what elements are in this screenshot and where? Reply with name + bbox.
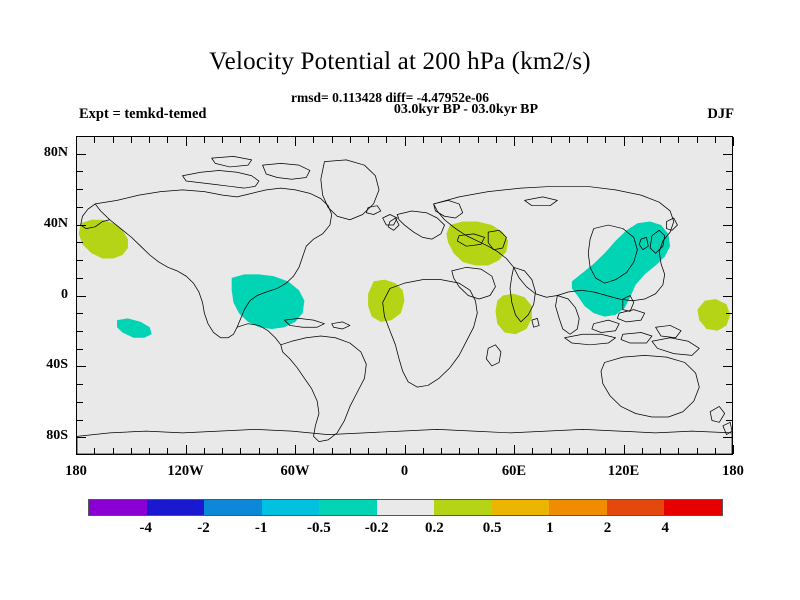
y-tick-right [723, 225, 732, 226]
x-tick-top [642, 137, 643, 143]
y-tick-right [726, 260, 732, 261]
x-tick [240, 448, 241, 454]
x-tick-top [186, 137, 187, 146]
x-tick-top [149, 137, 150, 143]
x-tick-top [478, 137, 479, 143]
x-tick-top [131, 137, 132, 143]
contour-region-maritime-continent-east-asia-negative [572, 222, 670, 317]
x-tick [514, 445, 515, 454]
y-tick [77, 225, 86, 226]
x-tick [642, 448, 643, 454]
x-tick [660, 448, 661, 454]
y-tick [77, 402, 83, 403]
colorbar-tick-label: -4 [116, 520, 176, 537]
x-tick [496, 448, 497, 454]
contour-region-indian-ocean-positive [495, 294, 531, 335]
y-tick [77, 313, 83, 314]
x-tick [332, 448, 333, 454]
y-axis-label: 40S [8, 357, 68, 373]
x-tick [587, 448, 588, 454]
colorbar-tick-label: 2 [578, 520, 638, 537]
x-tick [532, 448, 533, 454]
x-tick [697, 448, 698, 454]
filled-contour-layer [79, 220, 730, 338]
x-tick [167, 448, 168, 454]
x-tick-top [715, 137, 716, 143]
colorbar-tick-label: -1 [231, 520, 291, 537]
colorbar-band-10[interactable] [664, 500, 722, 515]
coastline-layer [77, 156, 732, 454]
x-tick-top [697, 137, 698, 143]
y-tick [77, 242, 83, 243]
colorbar-tick-label: 0.2 [404, 520, 464, 537]
x-axis-label: 120E [589, 463, 659, 480]
page-title: Velocity Potential at 200 hPa (km2/s) [0, 48, 800, 76]
x-tick-top [496, 137, 497, 143]
x-tick [277, 448, 278, 454]
x-tick [405, 445, 406, 454]
x-axis-label: 60W [260, 463, 330, 480]
y-axis-label: 0 [8, 287, 68, 303]
x-axis-label: 120W [151, 463, 221, 480]
colorbar-tick-label: -0.5 [289, 520, 349, 537]
x-tick-top [167, 137, 168, 143]
contour-region-east-pacific-south-america-negative [232, 274, 305, 329]
x-tick-top [678, 137, 679, 143]
y-tick-right [726, 384, 732, 385]
y-tick-right [726, 242, 732, 243]
colorbar-band-4[interactable] [319, 500, 377, 515]
y-tick-right [723, 366, 732, 367]
colorbar-band-5[interactable] [377, 500, 435, 515]
x-tick [678, 448, 679, 454]
colorbar-tick-label: -0.2 [347, 520, 407, 537]
y-tick-right [726, 331, 732, 332]
y-axis-label: 40N [8, 216, 68, 232]
x-tick [441, 448, 442, 454]
y-tick [77, 171, 83, 172]
x-tick [350, 448, 351, 454]
x-tick-top [459, 137, 460, 143]
x-tick [733, 445, 734, 454]
contour-region-south-pacific-negative [117, 318, 152, 337]
colorbar[interactable] [88, 499, 723, 516]
colorbar-tick-label: 0.5 [462, 520, 522, 537]
y-tick-right [726, 313, 732, 314]
x-axis-label: 180 [698, 463, 768, 480]
contour-region-west-pacific-dateline-positive [697, 299, 730, 331]
contour-region-middle-east-positive [446, 222, 508, 266]
x-tick [222, 448, 223, 454]
colorbar-band-6[interactable] [434, 500, 492, 515]
x-tick-top [532, 137, 533, 143]
map-plot-area [76, 136, 733, 455]
x-tick-top [551, 137, 552, 143]
x-tick [478, 448, 479, 454]
y-tick [77, 154, 86, 155]
x-tick-top [332, 137, 333, 143]
y-tick [77, 260, 83, 261]
y-tick [77, 437, 86, 438]
x-tick-top [733, 137, 734, 146]
colorbar-band-8[interactable] [549, 500, 607, 515]
y-tick-right [726, 189, 732, 190]
y-tick-right [726, 278, 732, 279]
y-tick-right [723, 154, 732, 155]
x-tick [386, 448, 387, 454]
colorbar-band-7[interactable] [492, 500, 550, 515]
x-tick [551, 448, 552, 454]
x-tick-top [423, 137, 424, 143]
x-tick [94, 448, 95, 454]
y-tick [77, 296, 86, 297]
x-tick [186, 445, 187, 454]
x-tick-top [240, 137, 241, 143]
x-tick-top [587, 137, 588, 143]
x-tick [605, 448, 606, 454]
x-tick-top [113, 137, 114, 143]
x-tick-top [441, 137, 442, 143]
contour-region-north-pacific-positive [79, 220, 128, 259]
x-tick [715, 448, 716, 454]
y-tick [77, 278, 83, 279]
x-tick [368, 448, 369, 454]
season-label: DJF [707, 106, 734, 123]
x-tick-top [514, 137, 515, 146]
x-tick [295, 445, 296, 454]
y-tick-right [726, 171, 732, 172]
x-tick [313, 448, 314, 454]
y-tick-right [726, 349, 732, 350]
y-axis-label: 80S [8, 428, 68, 444]
colorbar-band-9[interactable] [607, 500, 665, 515]
colorbar-band-3[interactable] [262, 500, 320, 515]
experiment-label: Expt = temkd-temed [79, 106, 206, 123]
x-tick [76, 445, 77, 454]
y-axis-label: 80N [8, 145, 68, 161]
y-tick-right [723, 437, 732, 438]
colorbar-band-2[interactable] [204, 500, 262, 515]
colorbar-band-1[interactable] [147, 500, 205, 515]
x-tick [149, 448, 150, 454]
x-axis-label: 0 [370, 463, 440, 480]
x-tick-top [386, 137, 387, 143]
x-tick-top [94, 137, 95, 143]
x-tick [569, 448, 570, 454]
x-tick-top [368, 137, 369, 143]
x-tick [624, 445, 625, 454]
x-tick-top [624, 137, 625, 146]
x-tick [131, 448, 132, 454]
x-tick-top [277, 137, 278, 143]
x-tick [423, 448, 424, 454]
y-tick [77, 349, 83, 350]
y-tick [77, 384, 83, 385]
x-tick-top [222, 137, 223, 143]
y-tick-right [726, 420, 732, 421]
y-tick [77, 189, 83, 190]
colorbar-tick-label: 4 [635, 520, 695, 537]
y-tick-right [726, 207, 732, 208]
x-tick-top [204, 137, 205, 143]
x-tick [204, 448, 205, 454]
x-tick [459, 448, 460, 454]
colorbar-band-0[interactable] [89, 500, 147, 515]
x-tick-top [295, 137, 296, 146]
colorbar-tick-label: 1 [520, 520, 580, 537]
x-tick-top [605, 137, 606, 143]
y-tick [77, 420, 83, 421]
contour-region-tropical-atlantic-west-africa-positive [368, 280, 404, 322]
x-tick-top [405, 137, 406, 146]
x-axis-label: 60E [479, 463, 549, 480]
y-tick [77, 366, 86, 367]
x-tick-top [313, 137, 314, 143]
x-axis-label: 180 [41, 463, 111, 480]
x-tick-top [259, 137, 260, 143]
y-tick-right [723, 296, 732, 297]
x-tick-top [569, 137, 570, 143]
y-tick [77, 207, 83, 208]
x-tick-top [76, 137, 77, 146]
y-tick-right [726, 402, 732, 403]
x-tick-top [350, 137, 351, 143]
colorbar-tick-label: -2 [173, 520, 233, 537]
x-tick [259, 448, 260, 454]
world-map-svg [77, 137, 732, 454]
x-tick-top [660, 137, 661, 143]
x-tick [113, 448, 114, 454]
y-tick [77, 331, 83, 332]
